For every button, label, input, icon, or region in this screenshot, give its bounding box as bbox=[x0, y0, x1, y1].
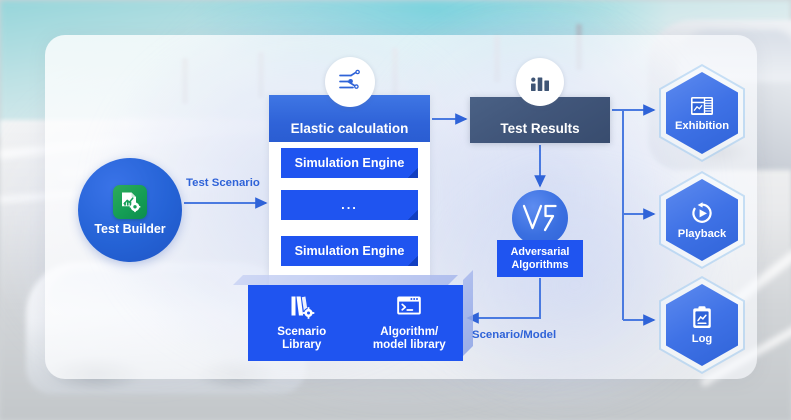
diagram-canvas: Test Builder Elastic calculation bbox=[0, 0, 791, 420]
node-scenario-library-line1: Scenario bbox=[277, 325, 326, 338]
dashboard-report-icon bbox=[689, 94, 715, 118]
vs-versus-icon bbox=[512, 190, 568, 246]
engine-row[interactable]: ... bbox=[281, 190, 418, 220]
circuit-nodes-icon bbox=[325, 57, 375, 107]
engine-row-label: ... bbox=[341, 198, 358, 213]
node-test-builder[interactable]: Test Builder bbox=[78, 158, 182, 262]
node-algorithm-model-library[interactable]: Algorithm/ model library bbox=[356, 292, 464, 356]
clipboard-log-icon bbox=[690, 305, 714, 331]
corner-fold-icon bbox=[408, 210, 418, 220]
node-library-slab: Scenario Library Algorithm/ bbox=[248, 285, 463, 361]
chart-document-gear-icon bbox=[113, 185, 147, 219]
edge-label-test-scenario: Test Scenario bbox=[186, 177, 260, 189]
corner-fold-icon bbox=[408, 256, 418, 266]
books-gear-icon bbox=[287, 292, 317, 322]
node-adversarial-algorithms[interactable]: Adversarial Algorithms bbox=[497, 240, 583, 277]
engine-row[interactable]: Simulation Engine bbox=[281, 148, 418, 178]
node-scenario-library[interactable]: Scenario Library bbox=[248, 292, 356, 356]
node-algorithm-library-line2: model library bbox=[373, 338, 446, 351]
node-test-builder-label: Test Builder bbox=[94, 222, 165, 236]
bar-chart-icon bbox=[516, 58, 564, 106]
engine-row-label: Simulation Engine bbox=[295, 156, 405, 170]
engine-row-label: Simulation Engine bbox=[295, 244, 405, 258]
engine-row[interactable]: Simulation Engine bbox=[281, 236, 418, 266]
terminal-window-icon bbox=[394, 292, 424, 322]
node-output-label: Playback bbox=[678, 228, 727, 241]
node-output-label: Log bbox=[692, 333, 713, 346]
node-algorithm-library-line1: Algorithm/ bbox=[373, 325, 446, 338]
edge-label-scenario-model: Scenario/Model bbox=[472, 329, 556, 341]
node-adversarial-line2: Algorithms bbox=[511, 259, 570, 271]
node-output-exhibition[interactable]: Exhibition bbox=[659, 64, 745, 162]
corner-fold-icon bbox=[408, 168, 418, 178]
replay-play-icon bbox=[689, 200, 715, 226]
node-scenario-library-line2: Library bbox=[277, 338, 326, 351]
node-output-playback[interactable]: Playback bbox=[659, 171, 745, 269]
node-adversarial-line1: Adversarial bbox=[511, 246, 570, 258]
node-output-label: Exhibition bbox=[675, 120, 729, 133]
node-elastic-calculation-label: Elastic calculation bbox=[291, 121, 409, 136]
node-output-log[interactable]: Log bbox=[659, 276, 745, 374]
node-test-results-label: Test Results bbox=[500, 121, 579, 136]
